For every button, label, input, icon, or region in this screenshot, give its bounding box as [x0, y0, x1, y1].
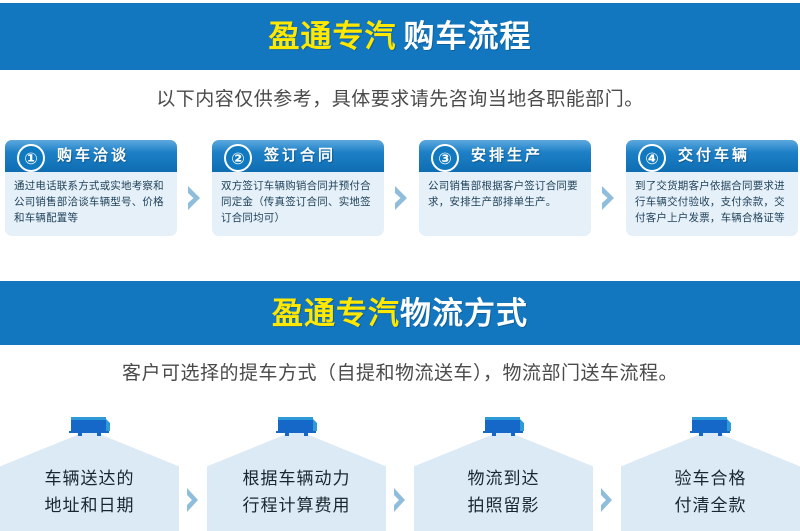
flow-item-1-line-1: 车辆送达的 — [45, 465, 135, 492]
step-card-2-header: ② 签订合同 — [212, 140, 384, 172]
step-card-4-body: 到了交货期客户依据合同要求进行车辆交付验收，支付余款，交付客户上户发票，车辆合格… — [626, 172, 798, 236]
flow-item-2-line-2: 行程计算费用 — [243, 492, 351, 519]
flow-item-2-label: 根据车辆动力 行程计算费用 — [207, 430, 386, 531]
step-card-3-title: 安排生产 — [471, 140, 543, 172]
section-1-banner-title: 盈通专汽购车流程 — [269, 21, 532, 52]
brand-name-text: 盈通专汽 — [269, 19, 397, 54]
step-number-badge: ② — [224, 144, 252, 172]
section-2-banner: 盈通专汽物流方式 — [0, 281, 800, 345]
step-card-4[interactable]: ④ 交付车辆 到了交货期客户依据合同要求进行车辆交付验收，支付余款，交付客户上户… — [626, 140, 798, 236]
step-card-1[interactable]: ① 购车洽谈 通过电话联系方式或实地考察和公司销售部洽谈车辆型号、价格和车辆配置… — [5, 140, 177, 236]
section-2-title-text: 物流方式 — [400, 296, 528, 331]
flow-item-1[interactable]: 车辆送达的 地址和日期 — [0, 414, 179, 531]
flow-item-4-label: 验车合格 付清全款 — [621, 430, 800, 531]
step-number-badge: ③ — [431, 144, 459, 172]
truck-icon — [274, 414, 320, 436]
section-1-banner: 盈通专汽购车流程 — [0, 3, 800, 70]
flow-item-4-line-2: 付清全款 — [675, 492, 747, 519]
step-card-2[interactable]: ② 签订合同 双方签订车辆购销合同并预付合同定金（传真签订合同、实地签订合同均可… — [212, 140, 384, 236]
step-card-3-header: ③ 安排生产 — [419, 140, 591, 172]
step-card-3[interactable]: ③ 安排生产 公司销售部根据客户签订合同要求，安排生产部排单生产。 — [419, 140, 591, 236]
flow-item-1-line-2: 地址和日期 — [45, 492, 135, 519]
flow-item-4[interactable]: 验车合格 付清全款 — [621, 414, 800, 531]
step-card-1-header: ① 购车洽谈 — [5, 140, 177, 172]
flow-item-3-line-1: 物流到达 — [468, 465, 540, 492]
flow-item-1-label: 车辆送达的 地址和日期 — [0, 430, 179, 531]
step-card-1-body: 通过电话联系方式或实地考察和公司销售部洽谈车辆型号、价格和车辆配置等 — [5, 172, 177, 236]
flow-item-2[interactable]: 根据车辆动力 行程计算费用 — [207, 414, 386, 531]
chevron-right-icon — [186, 185, 203, 211]
section-1-subtitle: 以下内容仅供参考，具体要求请先咨询当地各职能部门。 — [0, 84, 800, 111]
flow-item-3-label: 物流到达 拍照留影 — [414, 430, 593, 531]
step-card-2-body: 双方签订车辆购销合同并预付合同定金（传真签订合同、实地签订合同均可） — [212, 172, 384, 236]
section-1-title-text: 购车流程 — [404, 19, 532, 54]
step-number-badge: ④ — [638, 144, 666, 172]
chevron-right-icon — [599, 487, 615, 513]
flow-item-2-line-1: 根据车辆动力 — [243, 465, 351, 492]
step-card-4-header: ④ 交付车辆 — [626, 140, 798, 172]
step-card-1-body-text: 通过电话联系方式或实地考察和公司销售部洽谈车辆型号、价格和车辆配置等 — [14, 178, 168, 226]
chevron-right-icon — [185, 487, 201, 513]
chevron-right-icon — [393, 185, 410, 211]
truck-icon — [67, 414, 113, 436]
flow-item-3-line-2: 拍照留影 — [468, 492, 540, 519]
step-card-4-title: 交付车辆 — [678, 140, 750, 172]
truck-icon — [481, 414, 527, 436]
brand-name-text: 盈通专汽 — [272, 296, 400, 331]
step-card-2-title: 签订合同 — [264, 140, 336, 172]
logistics-flow-row: 车辆送达的 地址和日期 根据车辆动力 行程计算费用 — [0, 414, 800, 531]
chevron-right-icon — [600, 185, 617, 211]
truck-icon — [688, 414, 734, 436]
step-card-3-body: 公司销售部根据客户签订合同要求，安排生产部排单生产。 — [419, 172, 591, 236]
step-number-badge: ① — [17, 144, 45, 172]
flow-item-3[interactable]: 物流到达 拍照留影 — [414, 414, 593, 531]
section-2-banner-title: 盈通专汽物流方式 — [272, 298, 528, 329]
flow-item-4-line-1: 验车合格 — [675, 465, 747, 492]
step-card-2-body-text: 双方签订车辆购销合同并预付合同定金（传真签订合同、实地签订合同均可） — [221, 178, 375, 226]
step-card-1-title: 购车洽谈 — [57, 140, 129, 172]
chevron-right-icon — [392, 487, 408, 513]
step-card-4-body-text: 到了交货期客户依据合同要求进行车辆交付验收，支付余款，交付客户上户发票，车辆合格… — [635, 178, 789, 226]
section-2-subtitle: 客户可选择的提车方式（自提和物流送车），物流部门送车流程。 — [0, 358, 800, 385]
step-card-3-body-text: 公司销售部根据客户签订合同要求，安排生产部排单生产。 — [428, 178, 582, 210]
